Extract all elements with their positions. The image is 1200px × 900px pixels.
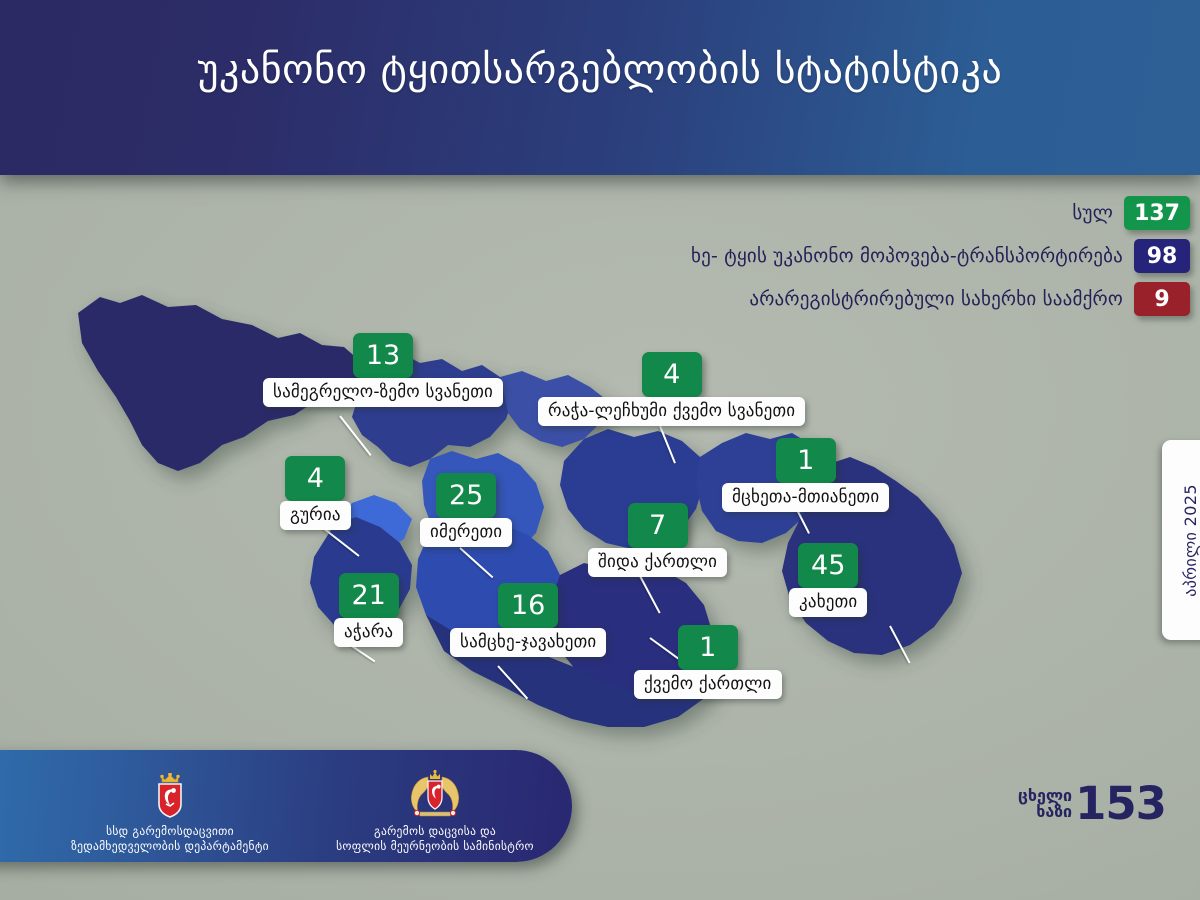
callout-mtskheta[interactable]: 1 მცხეთა-მთიანეთი xyxy=(722,438,889,512)
callout-value-kakheti: 45 xyxy=(798,543,858,588)
date-tab-label: აპრილი 2025 xyxy=(1177,484,1200,597)
callout-value-racha: 4 xyxy=(642,352,702,397)
callout-label-mtskheta: მცხეთა-მთიანეთი xyxy=(722,483,889,512)
callout-value-samtskhe: 16 xyxy=(498,583,558,628)
callout-samegrelo[interactable]: 13 სამეგრელო-ზემო სვანეთი xyxy=(263,333,503,407)
hotline-words: ცხელი ხაზი xyxy=(1018,788,1072,820)
org-ministry: გარემოს დაცვისა და სოფლის მეურნეობის სამ… xyxy=(310,769,560,855)
callout-kakheti[interactable]: 45 კახეთი xyxy=(789,543,867,617)
callout-adjara[interactable]: 21 აჭარა xyxy=(334,573,403,647)
org-department: სსდ გარემოსდაცვითი ზედამხედველობის დეპარ… xyxy=(60,773,280,855)
callout-racha[interactable]: 4 რაჭა-ლეჩხუმი ქვემო სვანეთი xyxy=(538,352,805,426)
callout-value-kvemo-kartli: 1 xyxy=(678,625,738,670)
coat-of-arms-full-icon xyxy=(404,769,466,819)
org-department-name: სსდ გარემოსდაცვითი ზედამხედველობის დეპარ… xyxy=(60,824,280,855)
callout-value-samegrelo: 13 xyxy=(353,333,413,378)
hotline-word-2: ხაზი xyxy=(1018,804,1072,820)
callout-shida-kartli[interactable]: 7 შიდა ქართლი xyxy=(588,503,727,577)
legend-label-unregistered: არარეგისტრირებული სახერხი საამქრო xyxy=(749,288,1123,310)
legend-label-total: სულ xyxy=(1072,202,1113,224)
callout-kvemo-kartli[interactable]: 1 ქვემო ქართლი xyxy=(634,625,782,699)
callout-value-imereti: 25 xyxy=(436,473,496,518)
callout-value-adjara: 21 xyxy=(339,573,399,618)
callout-value-shida-kartli: 7 xyxy=(628,503,688,548)
legend-row-unregistered: არარეგისტრირებული სახერხი საამქრო 9 xyxy=(560,282,1200,316)
callout-value-guria: 4 xyxy=(285,456,345,501)
callout-label-kakheti: კახეთი xyxy=(789,588,867,617)
legend: სულ 137 ხე- ტყის უკანონო მოპოვება-ტრანსპ… xyxy=(560,196,1200,325)
callout-imereti[interactable]: 25 იმერეთი xyxy=(420,473,512,547)
callout-samtskhe[interactable]: 16 სამცხე-ჯავახეთი xyxy=(450,583,606,657)
legend-label-transport: ხე- ტყის უკანონო მოპოვება-ტრანსპორტირება xyxy=(691,245,1123,267)
legend-value-total: 137 xyxy=(1124,196,1190,230)
page-title: უკანონო ტყითსარგებლობის სტატისტიკა xyxy=(0,47,1200,93)
callout-guria[interactable]: 4 გურია xyxy=(280,456,351,530)
callout-label-imereti: იმერეთი xyxy=(420,518,512,547)
callout-label-shida-kartli: შიდა ქართლი xyxy=(588,548,727,577)
callout-label-adjara: აჭარა xyxy=(334,618,403,647)
legend-value-transport: 98 xyxy=(1134,239,1190,273)
org-ministry-name: გარემოს დაცვისა და სოფლის მეურნეობის სამ… xyxy=(310,824,560,855)
legend-value-unregistered: 9 xyxy=(1134,282,1190,316)
callout-label-guria: გურია xyxy=(280,501,351,530)
legend-row-transport: ხე- ტყის უკანონო მოპოვება-ტრანსპორტირება… xyxy=(560,239,1200,273)
callout-label-samtskhe: სამცხე-ჯავახეთი xyxy=(450,628,606,657)
hotline-number: 153 xyxy=(1075,784,1166,825)
callout-label-samegrelo: სამეგრელო-ზემო სვანეთი xyxy=(263,378,503,407)
date-tab: აპრილი 2025 xyxy=(1162,440,1200,640)
callout-value-mtskheta: 1 xyxy=(776,438,836,483)
callout-label-kvemo-kartli: ქვემო ქართლი xyxy=(634,670,782,699)
page-header: უკანონო ტყითსარგებლობის სტატისტიკა xyxy=(0,0,1200,175)
callout-label-racha: რაჭა-ლეჩხუმი ქვემო სვანეთი xyxy=(538,397,805,426)
hotline: ცხელი ხაზი 153 xyxy=(1018,784,1166,825)
coat-of-arms-shield-icon xyxy=(150,773,190,819)
legend-row-total: სულ 137 xyxy=(560,196,1200,230)
